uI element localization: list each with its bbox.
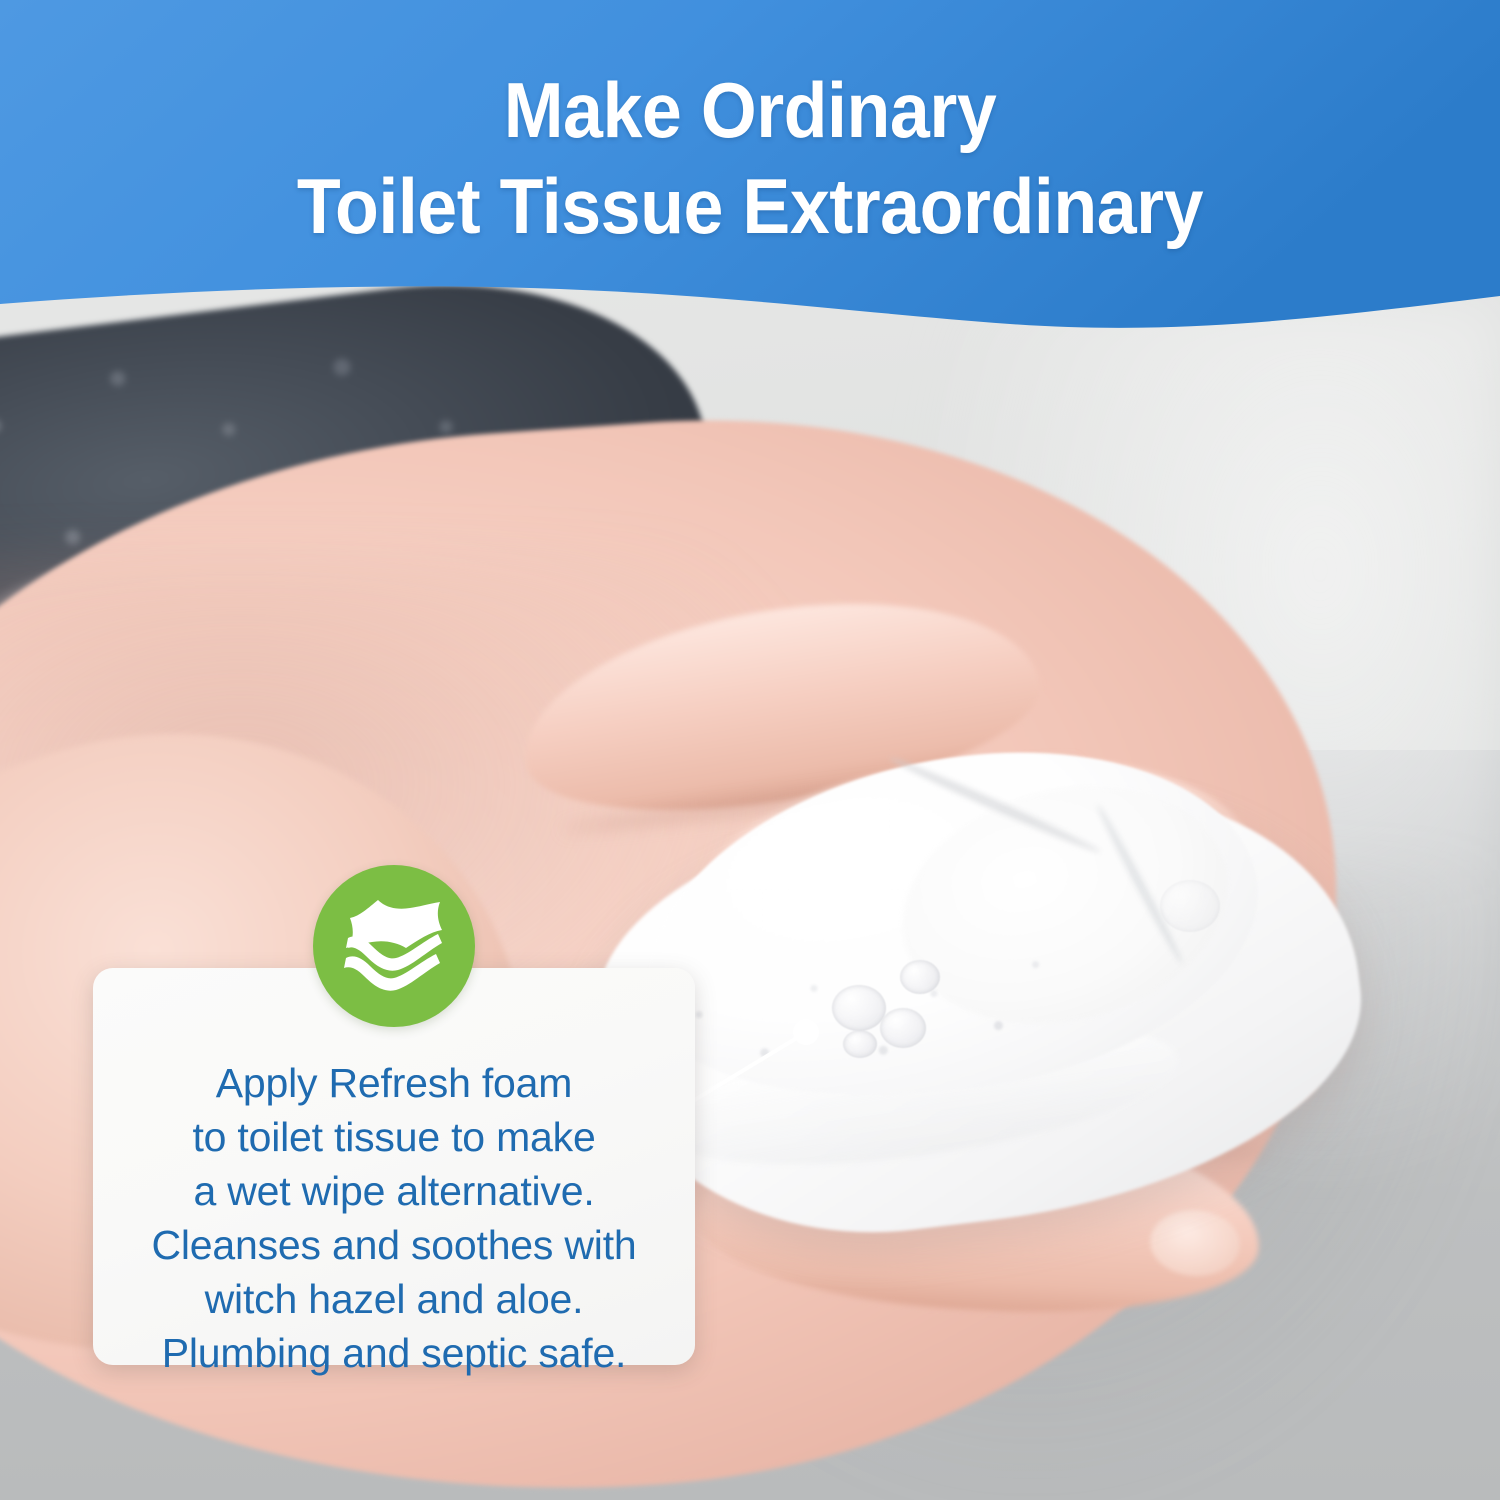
foam-bubble-2 [880, 1008, 926, 1048]
info-card: Apply Refresh foam to toilet tissue to m… [93, 968, 695, 1365]
foam-bubble-1 [832, 985, 886, 1031]
foam-bubble-5 [1160, 880, 1220, 932]
card-line-2: to toilet tissue to make [93, 1110, 695, 1164]
card-line-4: Cleanses and soothes with [93, 1218, 695, 1272]
info-card-text: Apply Refresh foam to toilet tissue to m… [93, 1056, 695, 1380]
card-line-6: Plumbing and septic safe. [93, 1326, 695, 1380]
foam-bubble-3 [900, 960, 940, 994]
foam-bubble-4 [843, 1030, 877, 1058]
tissue-badge [313, 865, 475, 1027]
card-line-5: witch hazel and aloe. [93, 1272, 695, 1326]
card-line-3: a wet wipe alternative. [93, 1164, 695, 1218]
stacked-tissue-sheets-icon [340, 896, 448, 996]
card-line-1: Apply Refresh foam [93, 1056, 695, 1110]
product-feature-image: Make Ordinary Toilet Tissue Extraordinar… [0, 0, 1500, 1500]
